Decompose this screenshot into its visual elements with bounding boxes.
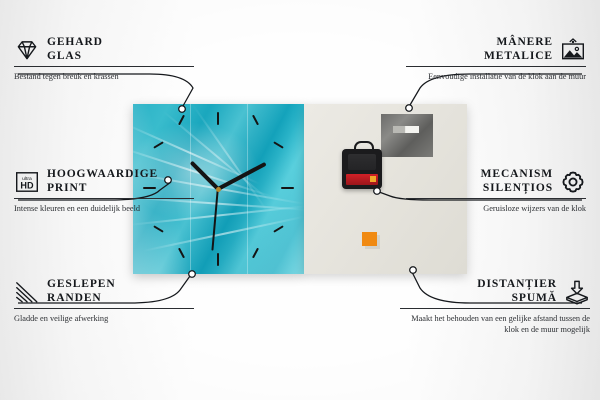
- gear-icon: [560, 169, 586, 195]
- picture-frame-icon: [560, 37, 586, 63]
- feature-hoogwaardige-print: ultra HD HOOGWAARDIGE PRINT Intense kleu…: [14, 168, 194, 214]
- feature-divider: [406, 66, 586, 67]
- feature-title-line2: PRINT: [47, 182, 158, 196]
- feature-title-line2: RANDEN: [47, 292, 116, 306]
- feature-title-line2: METALICE: [484, 50, 553, 64]
- diagonal-lines-icon: [14, 279, 40, 305]
- down-arrow-layers-icon: [564, 279, 590, 305]
- diamond-icon: [14, 37, 40, 63]
- feature-gehard-glas: GEHARD GLAS Bestand tegen breuk en krass…: [14, 36, 194, 82]
- feature-title-line2: SILENȚIOS: [481, 182, 553, 196]
- feature-manere-metalice: MÂNERE METALICE Eenvoudige installatie v…: [406, 36, 586, 82]
- feature-description: Maakt het behouden van een gelijke afsta…: [400, 313, 590, 335]
- feature-divider: [400, 308, 590, 309]
- feature-description: Intense kleuren en een duidelijk beeld: [14, 203, 194, 214]
- feature-geslepen-randen: GESLEPEN RANDEN Gladde en veilige afwerk…: [14, 278, 194, 324]
- feature-description: Bestand tegen breuk en krassen: [14, 71, 194, 82]
- feature-title-line1: MECANISM: [481, 168, 553, 182]
- feature-divider: [14, 66, 194, 67]
- connector-dot-mecanism: [374, 188, 381, 195]
- svg-text:HD: HD: [20, 180, 34, 190]
- feature-distantier-spuma: DISTANȚIER SPUMĂ Maakt het behouden van …: [400, 278, 590, 335]
- feature-title-line1: DISTANȚIER: [477, 278, 557, 292]
- feature-title-line1: GEHARD: [47, 36, 103, 50]
- feature-divider: [406, 198, 586, 199]
- feature-title-line1: HOOGWAARDIGE: [47, 168, 158, 182]
- feature-title-line1: GESLEPEN: [47, 278, 116, 292]
- feature-title-line2: GLAS: [47, 50, 103, 64]
- connector-dot-distantier: [410, 267, 417, 274]
- infographic-canvas: GEHARD GLAS Bestand tegen breuk en krass…: [0, 0, 600, 400]
- feature-mecanism-silentios: MECANISM SILENȚIOS Geruisloze wijzers va…: [406, 168, 586, 214]
- feature-title-line2: SPUMĂ: [477, 292, 557, 306]
- feature-divider: [14, 198, 194, 199]
- feature-divider: [14, 308, 194, 309]
- connector-dot-randen: [189, 271, 196, 278]
- ultra-hd-icon: ultra HD: [14, 169, 40, 195]
- connector-dot-manere: [406, 105, 413, 112]
- feature-description: Gladde en veilige afwerking: [14, 313, 194, 324]
- connector-dot-gehard-glas: [179, 106, 186, 113]
- feature-description: Geruisloze wijzers van de klok: [406, 203, 586, 214]
- feature-description: Eenvoudige installatie van de klok aan d…: [406, 71, 586, 82]
- feature-title-line1: MÂNERE: [484, 36, 553, 50]
